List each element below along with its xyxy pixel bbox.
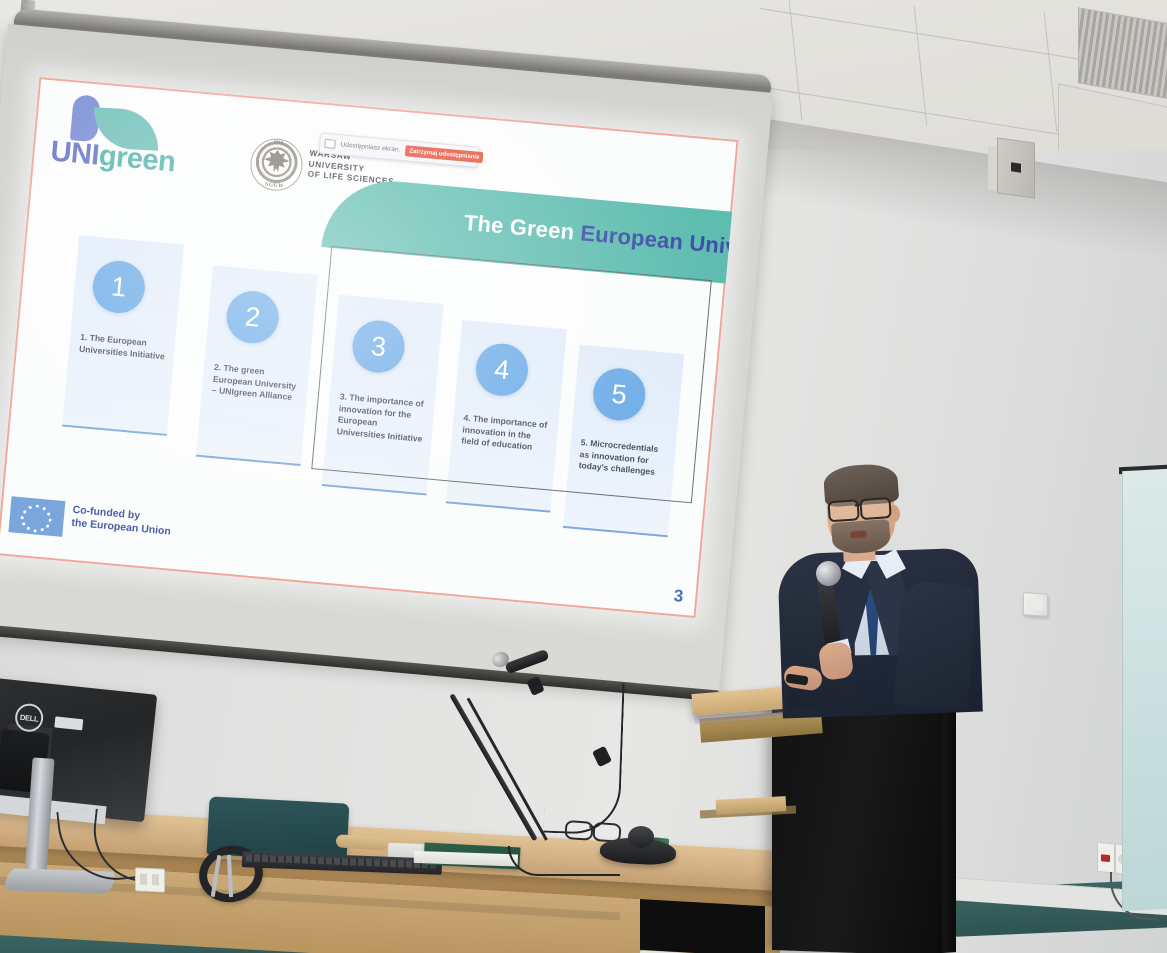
podium: 1816 SGGW — [772, 697, 942, 953]
wall-speaker — [997, 137, 1035, 198]
stop-sharing-button[interactable]: Zatrzymaj udostępnianie — [405, 145, 484, 163]
eu-funding-block: Co-funded by the European Union — [8, 494, 231, 554]
unigreen-uni-text: UNI — [49, 135, 100, 171]
agenda-card: 4 4. The importance of innovation in the… — [446, 320, 567, 513]
presentation-slide: UNIgreen 1816 SGGW WARSAW UNIVERSITY OF … — [0, 77, 739, 618]
agenda-card: 1 1. The European Universities Initiativ… — [62, 235, 184, 436]
light-switch[interactable] — [1023, 592, 1048, 617]
card-text: 4. The importance of innovation in the f… — [461, 412, 551, 454]
card-number-circle: 3 — [350, 318, 406, 374]
crest-year: 1816 — [253, 139, 303, 148]
unigreen-logo: UNIgreen — [49, 93, 206, 186]
eagle-icon — [261, 148, 291, 178]
banner-title-blue: European University — [579, 220, 738, 264]
desk-power-socket[interactable] — [135, 867, 165, 893]
card-number-circle: 4 — [474, 342, 530, 398]
rollup-banner — [1122, 469, 1167, 911]
outlet-data-port[interactable] — [1097, 842, 1115, 874]
mouth — [850, 530, 867, 538]
lecture-hall-photo: UNIgreen 1816 SGGW WARSAW UNIVERSITY OF … — [0, 0, 1167, 953]
unigreen-green-text: green — [98, 140, 177, 179]
presenter — [780, 455, 980, 715]
slide-page-number: 3 — [673, 586, 684, 607]
card-text: 2. The green European University – UNIgr… — [211, 362, 301, 404]
speaker-grill-icon — [1011, 162, 1021, 172]
eu-funding-text: Co-funded by the European Union — [71, 504, 173, 539]
share-message: Udostępniasz ekran. — [340, 141, 401, 153]
camera-icon — [324, 139, 336, 149]
card-number-circle: 2 — [224, 289, 280, 345]
card-text: 1. The European Universities Initiative — [79, 332, 168, 363]
microphone-cable — [543, 681, 624, 836]
card-text: 3. The importance of innovation for the … — [336, 391, 427, 445]
lens-right — [859, 497, 891, 520]
right-arm — [894, 581, 976, 710]
card-number-circle: 5 — [591, 366, 647, 422]
lens-left — [827, 499, 859, 522]
agenda-card: 5 5. Microcredentials as innovation for … — [563, 345, 684, 538]
agenda-card: 3 3. The importance of innovation for th… — [322, 295, 444, 496]
card-text: 5. Microcredentials as innovation for to… — [578, 437, 668, 479]
hand-holding-microphone — [818, 641, 855, 681]
card-number-circle: 1 — [91, 259, 147, 315]
banner-title: The Green European University — [463, 210, 739, 266]
crest-sggw: SGGW — [249, 180, 299, 190]
presenter-eyeglasses — [827, 497, 896, 520]
microphone-base-hub — [628, 826, 654, 848]
banner-title-white: The Green — [463, 210, 575, 245]
projection-screen: UNIgreen 1816 SGGW WARSAW UNIVERSITY OF … — [0, 24, 773, 706]
agenda-card: 2 2. The green European University – UNI… — [196, 265, 318, 466]
sggw-crest-icon: 1816 SGGW — [248, 136, 304, 192]
eu-flag-icon — [8, 496, 65, 537]
monitor-label-sticker — [54, 716, 83, 730]
